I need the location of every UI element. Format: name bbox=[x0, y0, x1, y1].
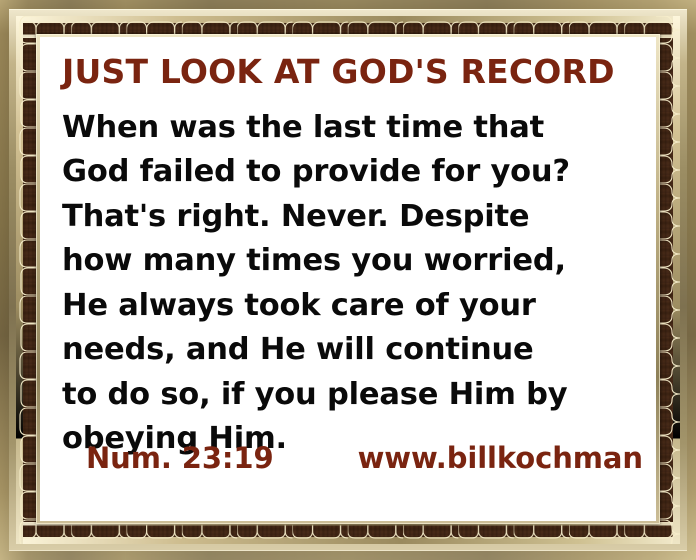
body-line: He always took care of your bbox=[62, 284, 638, 329]
scripture-body: When was the last time that God failed t… bbox=[62, 106, 638, 462]
body-line: how many times you worried, bbox=[62, 239, 638, 284]
page-title: JUST LOOK AT GOD'S RECORD bbox=[62, 55, 638, 90]
body-line: needs, and He will continue bbox=[62, 328, 638, 373]
scripture-poster: JUST LOOK AT GOD'S RECORD When was the l… bbox=[0, 0, 696, 560]
body-line: That's right. Never. Despite bbox=[62, 195, 638, 240]
poster-card: JUST LOOK AT GOD'S RECORD When was the l… bbox=[40, 37, 656, 521]
scripture-reference: Num. 23:19 bbox=[86, 441, 274, 475]
attribution-row: Num. 23:19 www.billkochman bbox=[62, 441, 638, 475]
body-line: God failed to provide for you? bbox=[62, 150, 638, 195]
body-line: to do so, if you please Him by bbox=[62, 373, 638, 418]
body-line: When was the last time that bbox=[62, 106, 638, 151]
website-url: www.billkochman bbox=[358, 441, 643, 475]
